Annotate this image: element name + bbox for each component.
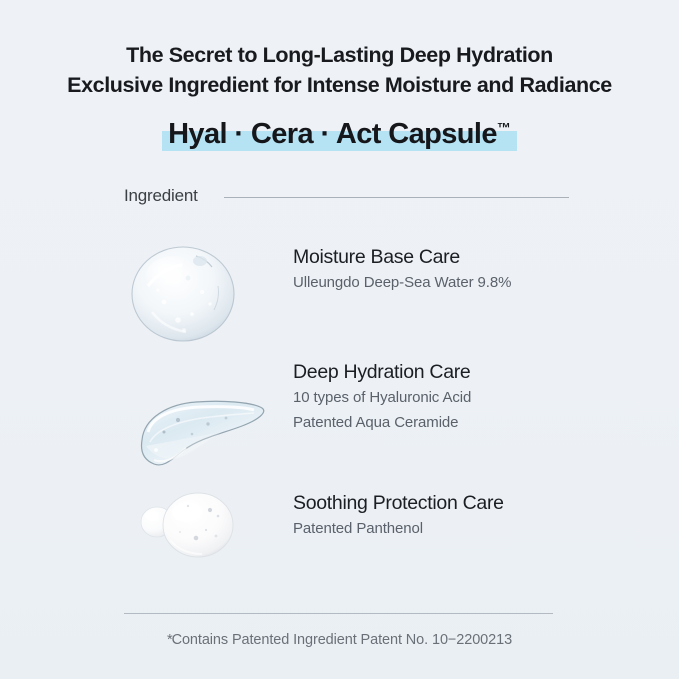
ingredient-row: Soothing Protection Care Patented Panthe…	[0, 480, 679, 584]
ingredient-detail: 10 types of Hyaluronic Acid	[293, 385, 623, 410]
ingredient-text: Moisture Base Care Ulleungdo Deep-Sea Wa…	[293, 244, 623, 295]
ingredient-row: Moisture Base Care Ulleungdo Deep-Sea Wa…	[0, 232, 679, 356]
ingredient-text: Soothing Protection Care Patented Panthe…	[293, 490, 623, 541]
section-divider	[224, 197, 569, 198]
section-header: Ingredient	[124, 186, 569, 206]
ingredient-row: Deep Hydration Care 10 types of Hyaluron…	[0, 356, 679, 480]
section-label: Ingredient	[124, 186, 198, 206]
brand-name: Hyal · Cera · Act Capsule™	[168, 118, 511, 150]
ingredient-detail: Patented Panthenol	[293, 516, 623, 541]
header: The Secret to Long-Lasting Deep Hydratio…	[0, 40, 679, 152]
brand-name-block: Hyal · Cera · Act Capsule™	[162, 109, 517, 152]
ingredient-list: Moisture Base Care Ulleungdo Deep-Sea Wa…	[0, 232, 679, 584]
footer-note-text: Contains Patented Ingredient Patent No. …	[172, 632, 512, 648]
ingredient-title: Deep Hydration Care	[293, 359, 623, 385]
ingredient-detail: Ulleungdo Deep-Sea Water 9.8%	[293, 270, 623, 295]
clear-water-droplet-swatch	[130, 240, 275, 360]
headline-line-2: Exclusive Ingredient for Intense Moistur…	[0, 70, 679, 100]
footer-note: *Contains Patented Ingredient Patent No.…	[0, 632, 679, 648]
headline-line-1: The Secret to Long-Lasting Deep Hydratio…	[0, 40, 679, 70]
ingredient-title: Soothing Protection Care	[293, 490, 623, 516]
brand-name-text: Hyal · Cera · Act Capsule	[168, 118, 497, 150]
white-cream-droplets-swatch	[130, 492, 275, 612]
ingredient-detail: Patented Aqua Ceramide	[293, 410, 623, 435]
ingredient-text: Deep Hydration Care 10 types of Hyaluron…	[293, 359, 623, 435]
ingredient-title: Moisture Base Care	[293, 244, 623, 270]
infographic-page: The Secret to Long-Lasting Deep Hydratio…	[0, 0, 679, 679]
footer-divider	[124, 613, 553, 614]
trademark-symbol: ™	[497, 119, 511, 135]
